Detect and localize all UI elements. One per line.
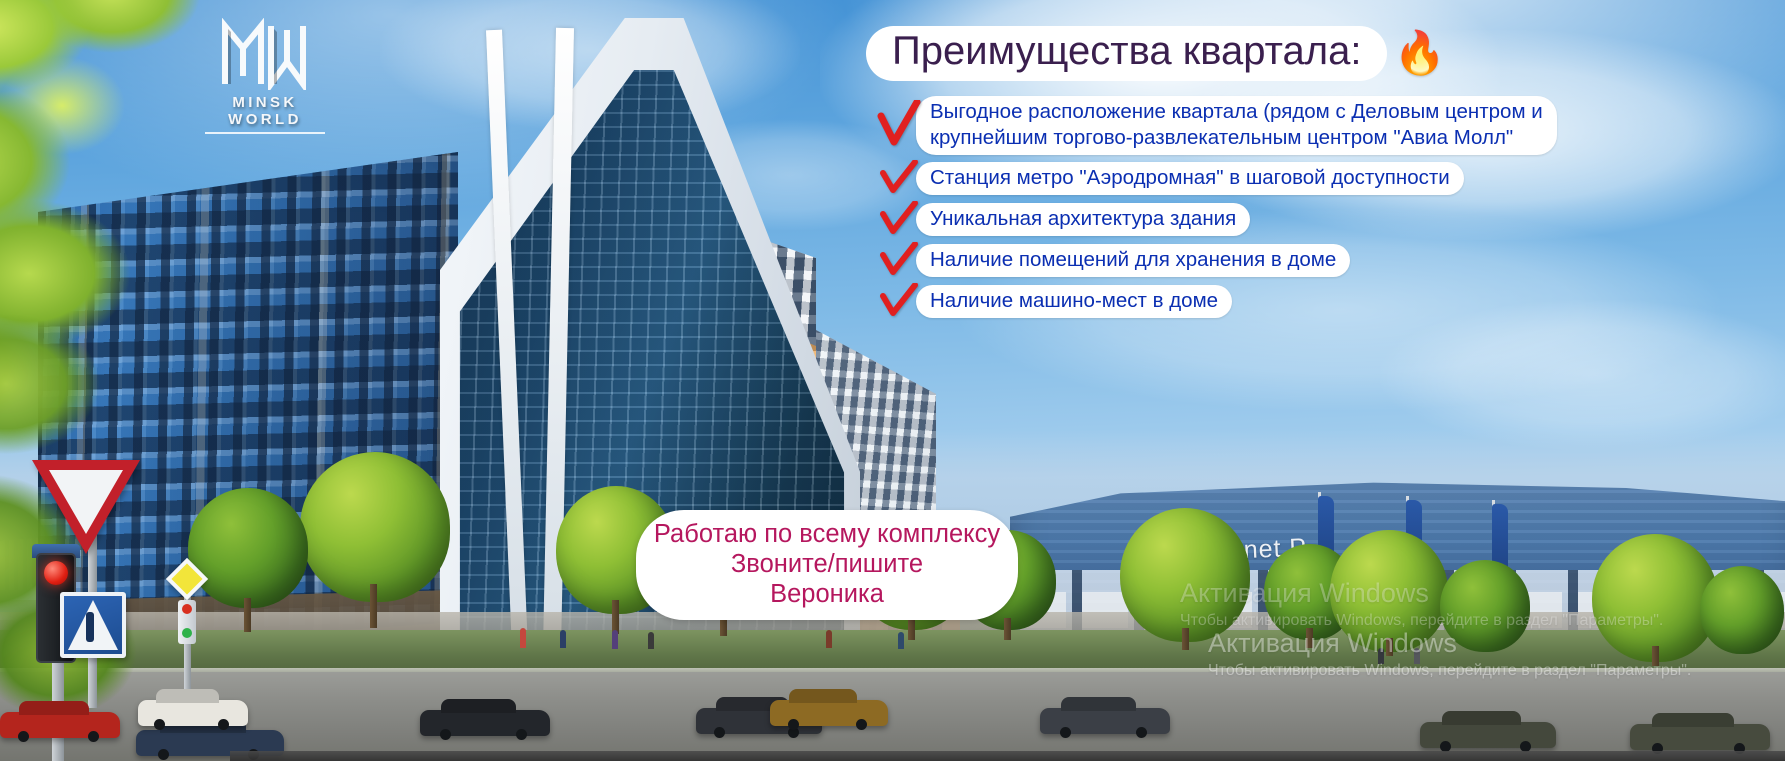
- logo-underline: [205, 132, 325, 134]
- wheel: [788, 719, 799, 730]
- red-checkmark-icon: [876, 283, 922, 319]
- windows-activation-subtitle: Чтобы активировать Windows, перейдите в …: [1208, 662, 1691, 680]
- give-way-sign-inner: [49, 470, 123, 534]
- tree-trunk: [1182, 628, 1189, 650]
- traffic-light-red-lamp: [44, 561, 68, 585]
- wheel: [856, 719, 867, 730]
- contact-line-2: Звоните/пишите: [731, 550, 923, 580]
- bullet-text: Станция метро "Аэродромная" в шаговой до…: [916, 162, 1464, 195]
- bullet-item: Станция метро "Аэродромная" в шаговой до…: [876, 160, 1557, 196]
- car: [138, 700, 248, 726]
- pedestrian: [826, 630, 832, 648]
- windows-activation-title: Активация Windows: [1208, 628, 1457, 659]
- tree-trunk: [244, 598, 251, 632]
- pedestrian: [560, 630, 566, 648]
- contact-line-3: Вероника: [770, 580, 884, 610]
- pedestrian: [898, 632, 904, 649]
- minsk-world-logo: MINSK WORLD: [200, 18, 330, 118]
- bullet-text: Наличие машино-мест в доме: [916, 285, 1232, 318]
- red-checkmark-icon: [876, 100, 922, 152]
- wheel: [158, 749, 169, 760]
- contact-line-1: Работаю по всему комплексу: [654, 520, 1000, 550]
- bullet-item: Наличие машино-мест в доме: [876, 283, 1557, 319]
- red-checkmark-icon: [876, 160, 922, 196]
- secondary-light-green: [182, 628, 192, 638]
- bullet-item: Выгодное расположение квартала (рядом с …: [876, 96, 1557, 155]
- wheel: [714, 727, 725, 738]
- wheel: [154, 719, 165, 730]
- wheel: [218, 719, 229, 730]
- bullet-line-1: Выгодное расположение квартала (рядом с …: [930, 100, 1543, 123]
- bullet-item: Наличие помещений для хранения в доме: [876, 242, 1557, 278]
- bullet-item: Уникальная архитектура здания: [876, 201, 1557, 237]
- tree-trunk: [370, 584, 377, 628]
- car: [0, 712, 120, 738]
- wheel: [440, 729, 451, 740]
- wheel: [1060, 727, 1071, 738]
- pedestrian: [520, 628, 526, 648]
- red-checkmark-icon: [876, 201, 922, 237]
- bullet-text: Уникальная архитектура здания: [916, 203, 1250, 236]
- pedestrian-glyph: [86, 612, 94, 642]
- secondary-light-red: [182, 604, 192, 614]
- bullet-line-2: крупнейшим торгово-развлекательным центр…: [930, 126, 1513, 149]
- tree: [1700, 566, 1784, 654]
- windows-activation-title: Активация Windows: [1180, 578, 1429, 609]
- advert-title-group: Преимущества квартала: 🔥: [866, 26, 1446, 81]
- red-checkmark-icon: [876, 242, 922, 278]
- wheel: [1136, 727, 1147, 738]
- car: [1630, 724, 1770, 750]
- logo-wordmark: MINSK WORLD: [200, 94, 330, 128]
- car: [770, 700, 888, 726]
- car: [420, 710, 550, 736]
- fire-icon: 🔥: [1393, 32, 1445, 74]
- tree: [300, 452, 450, 602]
- bullet-text: Наличие помещений для хранения в доме: [916, 244, 1350, 277]
- pedestrian: [612, 630, 618, 649]
- wheel: [18, 731, 29, 742]
- pedestrian: [648, 632, 654, 649]
- wheel: [88, 731, 99, 742]
- bullet-text: Выгодное расположение квартала (рядом с …: [916, 96, 1557, 155]
- tree-trunk: [612, 600, 619, 634]
- car: [1420, 722, 1556, 748]
- mw-monogram-icon: [215, 18, 315, 90]
- tree-trunk: [1004, 618, 1011, 640]
- contact-card: Работаю по всему комплексу Звоните/пишит…: [636, 510, 1018, 620]
- advert-bullet-list: Выгодное расположение квартала (рядом с …: [876, 96, 1557, 319]
- bottom-edge-bar: [230, 751, 1785, 761]
- wheel: [516, 729, 527, 740]
- tree: [1592, 534, 1718, 662]
- advert-title: Преимущества квартала:: [866, 26, 1387, 81]
- advertisement-image: y planet P: [0, 0, 1785, 761]
- car: [1040, 708, 1170, 734]
